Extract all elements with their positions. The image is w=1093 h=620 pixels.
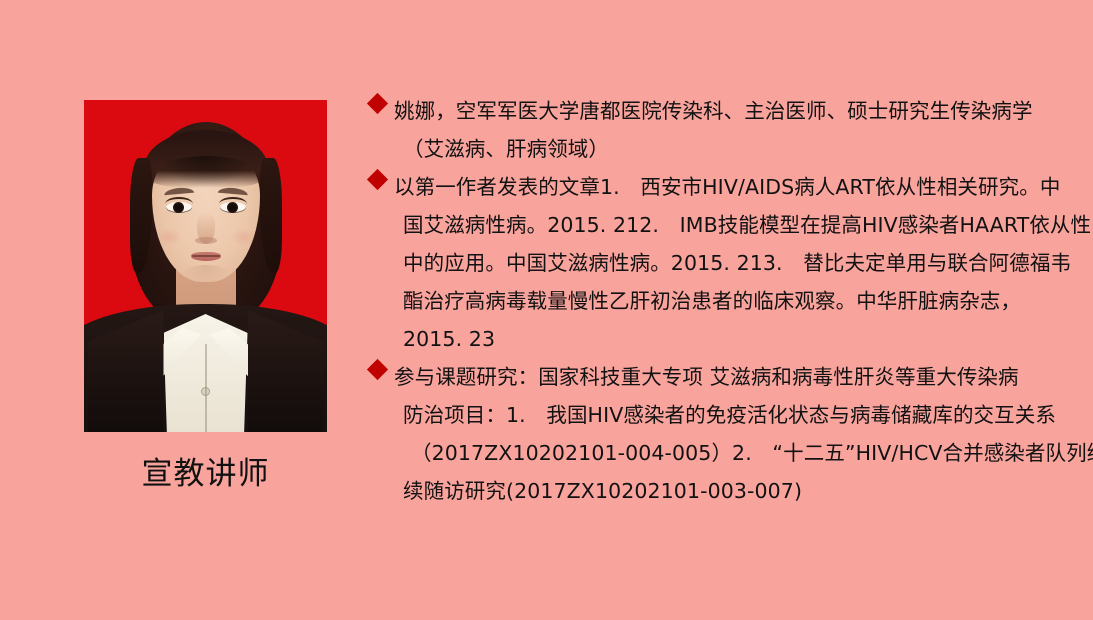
shirt-button [202, 388, 209, 395]
diamond-bullet-icon [367, 93, 388, 114]
eyelid-left-shape [165, 197, 193, 204]
bullet-item: 姚娜，空军军医大学唐都医院传染科、主治医师、硕士研究生传染病学 （艾滋病、肝病领… [368, 92, 1048, 168]
bullet-line: 姚娜，空军军医大学唐都医院传染科、主治医师、硕士研究生传染病学 [394, 92, 1048, 130]
diamond-bullet-icon [367, 169, 388, 190]
bullet-text-block: 以第一作者发表的文章1. 西安市HIV/AIDS病人ART依从性相关研究。中 国… [394, 168, 1048, 358]
chin-shape [180, 265, 232, 287]
bullet-line: 以第一作者发表的文章1. 西安市HIV/AIDS病人ART依从性相关研究。中 [394, 168, 1048, 206]
bullet-line: （艾滋病、肝病领域） [394, 130, 1048, 168]
bullet-line: 中的应用。中国艾滋病性病。2015. 213. 替比夫定单用与联合阿德福韦 [394, 244, 1048, 282]
portrait-photo [84, 100, 327, 432]
mouth-shape [191, 252, 221, 261]
portrait-caption: 宣教讲师 [84, 455, 327, 493]
bullet-item: 以第一作者发表的文章1. 西安市HIV/AIDS病人ART依从性相关研究。中 国… [368, 168, 1048, 358]
bullet-line: 防治项目：1. 我国HIV感染者的免疫活化状态与病毒储藏库的交互关系 [394, 396, 1048, 434]
bullet-item: 参与课题研究：国家科技重大专项 艾滋病和病毒性肝炎等重大传染病 防治项目：1. … [368, 358, 1048, 510]
bullet-list: 姚娜，空军军医大学唐都医院传染科、主治医师、硕士研究生传染病学 （艾滋病、肝病领… [368, 92, 1048, 510]
bullet-line: 参与课题研究：国家科技重大专项 艾滋病和病毒性肝炎等重大传染病 [394, 358, 1048, 396]
diamond-bullet-icon [367, 359, 388, 380]
nose-shape [197, 212, 215, 244]
bullet-text-block: 姚娜，空军军医大学唐都医院传染科、主治医师、硕士研究生传染病学 （艾滋病、肝病领… [394, 92, 1048, 168]
eyelid-right-shape [219, 197, 247, 204]
portrait-block [84, 100, 327, 432]
hair-fringe-shape [144, 130, 268, 188]
bullet-line: 2015. 23 [394, 320, 1048, 358]
shirt-shape [164, 314, 248, 432]
bullet-line: 续随访研究(2017ZX10202101-003-007) [394, 472, 1048, 510]
bullet-line: 国艾滋病性病。2015. 212. IMB技能模型在提高HIV感染者HAART依… [394, 206, 1048, 244]
bullet-text-block: 参与课题研究：国家科技重大专项 艾滋病和病毒性肝炎等重大传染病 防治项目：1. … [394, 358, 1048, 510]
cheek-left-shape [156, 228, 182, 246]
cheek-right-shape [230, 228, 256, 246]
bullet-line: 酯治疗高病毒载量慢性乙肝初治患者的临床观察。中华肝脏病杂志， [394, 282, 1048, 320]
bullet-line: （2017ZX10202101-004-005）2. “十二五”HIV/HCV合… [394, 434, 1048, 472]
